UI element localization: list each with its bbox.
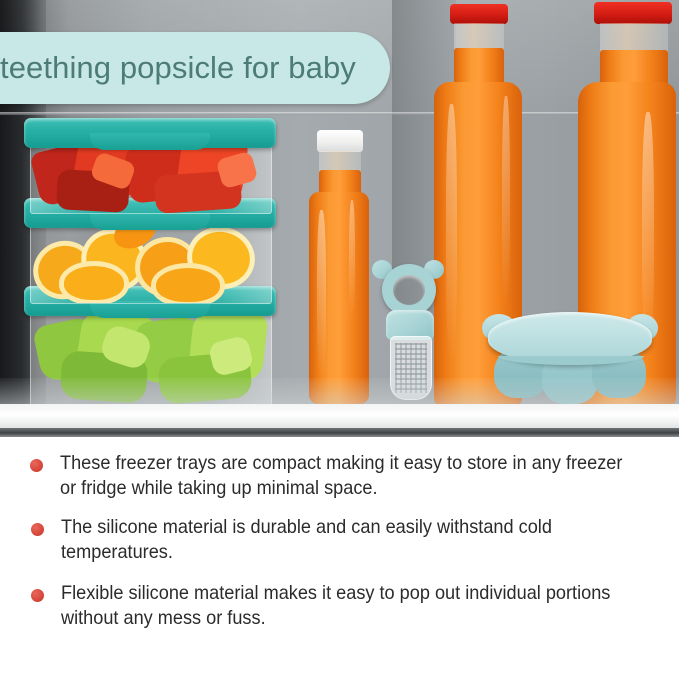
list-item: The silicone material is durable and can…: [0, 515, 679, 565]
juice-bottle-small: [305, 130, 373, 410]
bullet-dot-icon: [31, 523, 44, 536]
bottle-gloss-center: [446, 104, 457, 364]
headline-banner-label: teething popsicle for baby: [0, 50, 356, 86]
stacked-glass-containers: [24, 118, 276, 406]
bullet-dot-icon: [31, 589, 44, 602]
fridge-shelf-front: [0, 404, 679, 428]
bottle-cap-red-center: [450, 4, 508, 24]
bullet-dot-icon: [30, 459, 43, 472]
feature-text: The silicone material is durable and can…: [61, 515, 623, 565]
product-photo: teething popsicle for baby: [0, 0, 679, 437]
container-lid-top: [24, 118, 276, 148]
list-item: Flexible silicone material makes it easy…: [0, 581, 679, 631]
shelf-glass-surface: [0, 378, 679, 406]
bottle-gloss-right: [349, 200, 355, 320]
bottle-cap-white: [317, 130, 363, 152]
bottle-gloss-center-right: [502, 96, 510, 306]
feature-text: Flexible silicone material makes it easy…: [61, 581, 623, 631]
feature-text: These freezer trays are compact making i…: [60, 451, 623, 501]
fridge-shelf-edge: [0, 428, 679, 437]
feeder-ring-handle: [382, 264, 436, 316]
product-feature-image: teething popsicle for baby These freezer…: [0, 0, 679, 679]
feature-bullet-list: These freezer trays are compact making i…: [0, 437, 679, 679]
bottle-cap-red-right: [594, 2, 672, 24]
headline-banner: teething popsicle for baby: [0, 32, 390, 104]
list-item: These freezer trays are compact making i…: [0, 451, 679, 501]
bottle-gloss: [317, 210, 326, 380]
